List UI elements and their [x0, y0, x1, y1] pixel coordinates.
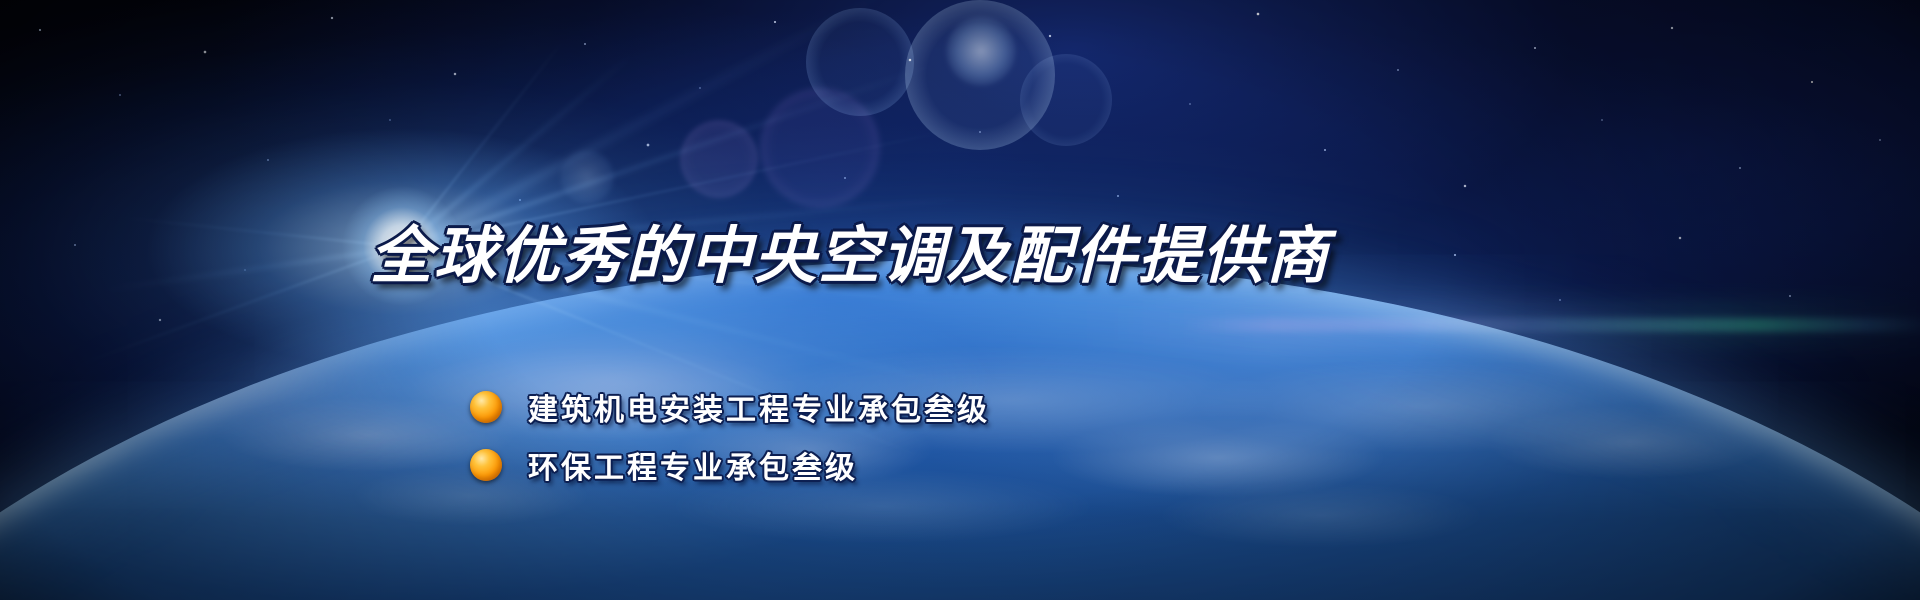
list-item: 建筑机电安装工程专业承包叁级 [470, 378, 1470, 436]
hero-banner: 全球优秀的中央空调及配件提供商 建筑机电安装工程专业承包叁级 环保工程专业承包叁… [0, 0, 1920, 600]
qualification-label: 环保工程专业承包叁级 [528, 443, 858, 487]
list-item: 环保工程专业承包叁级 [470, 436, 1470, 494]
bullet-dot-icon [470, 449, 502, 481]
bullet-dot-icon [470, 391, 502, 423]
qualification-label: 建筑机电安装工程专业承包叁级 [528, 385, 990, 429]
banner-headline: 全球优秀的中央空调及配件提供商 [0, 205, 1700, 295]
banner-content: 全球优秀的中央空调及配件提供商 建筑机电安装工程专业承包叁级 环保工程专业承包叁… [0, 0, 1920, 600]
qualification-list: 建筑机电安装工程专业承包叁级 环保工程专业承包叁级 [470, 378, 1470, 494]
